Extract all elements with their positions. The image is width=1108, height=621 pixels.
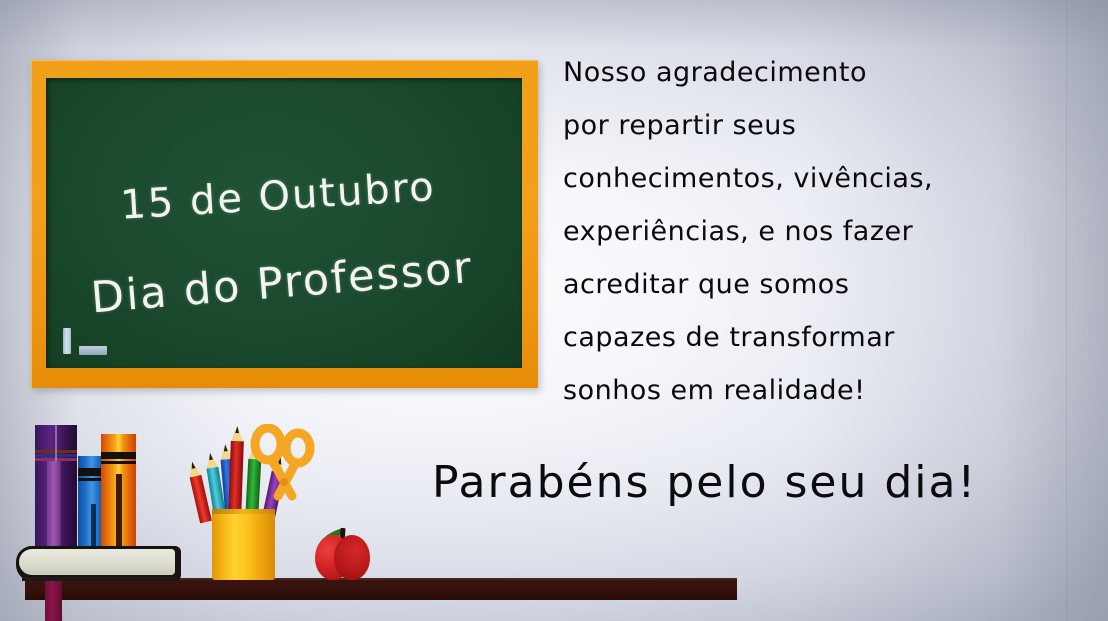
message-line: experiências, e nos fazer — [563, 205, 1033, 258]
book-band — [101, 461, 136, 464]
message-line: por repartir seus — [563, 99, 1033, 152]
message-line: sonhos em realidade! — [563, 364, 1033, 417]
pencil-lead — [223, 444, 228, 451]
message-line: conhecimentos, vivências, — [563, 152, 1033, 205]
cup-rim — [212, 509, 275, 514]
book-spine-line — [91, 504, 96, 550]
book-purple — [35, 425, 77, 550]
chalkboard-surface: 15 de Outubro Dia do Professor — [46, 78, 522, 368]
book-pages — [19, 549, 175, 575]
bottom-cutoff-text — [560, 610, 1030, 621]
closing-greeting: Parabéns pelo seu dia! — [432, 457, 1052, 508]
book-spine-line — [116, 474, 122, 550]
book-inner-panel — [47, 461, 61, 550]
book-band — [101, 452, 136, 459]
pencil-lead — [208, 453, 213, 461]
book-bottom-edge — [22, 577, 177, 581]
chalk-stick-icon — [63, 328, 71, 354]
chalkboard-frame: 15 de Outubro Dia do Professor — [31, 60, 538, 388]
chalkboard-line-date: 15 de Outubro — [46, 159, 522, 233]
wooden-shelf — [25, 578, 737, 600]
wall-seam-line — [1066, 0, 1067, 621]
thank-you-message: Nosso agradecimento por repartir seus co… — [563, 46, 1033, 417]
message-line: capazes de transformar — [563, 311, 1033, 364]
message-line: acreditar que somos — [563, 258, 1033, 311]
chalkboard-line-title: Dia do Professor — [46, 239, 522, 327]
book-orange — [101, 434, 136, 550]
message-line: Nosso agradecimento — [563, 46, 1033, 99]
poster-canvas: 15 de Outubro Dia do Professor Nosso agr… — [0, 0, 1108, 621]
apple-body-right — [334, 535, 370, 580]
board-eraser-icon — [79, 346, 107, 355]
closed-book — [16, 546, 181, 581]
pencil-lead — [235, 426, 239, 433]
pencil-cup — [212, 509, 275, 580]
red-apple — [315, 528, 370, 580]
